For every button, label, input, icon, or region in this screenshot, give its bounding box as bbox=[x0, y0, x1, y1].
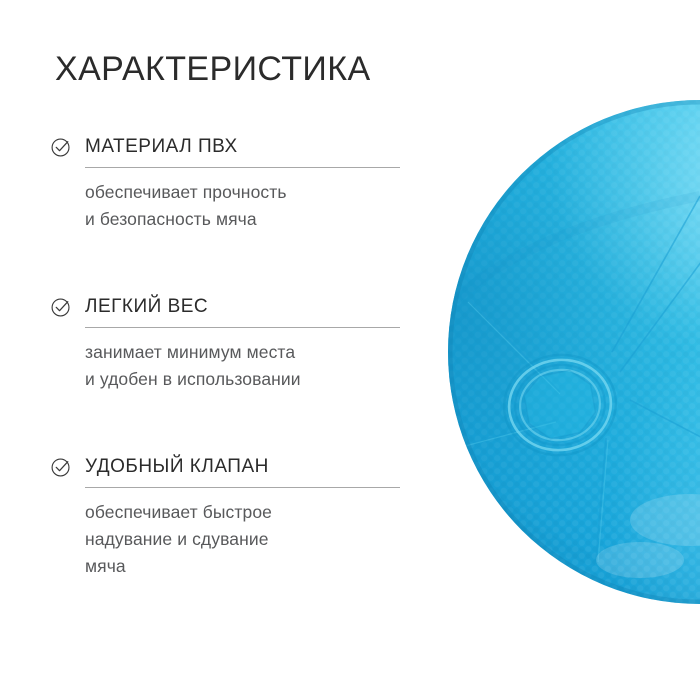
feature-divider bbox=[85, 167, 400, 168]
ball-seams bbox=[452, 196, 700, 560]
feature-item-valve: УДОБНЫЙ КЛАПАН обеспечивает быстрое наду… bbox=[50, 454, 410, 580]
feature-description: обеспечивает быстрое надувание и сдувани… bbox=[85, 499, 395, 580]
feature-divider bbox=[85, 327, 400, 328]
feature-description-line: надувание и сдувание bbox=[85, 526, 395, 553]
feature-divider bbox=[85, 487, 400, 488]
feature-header: ЛЕГКИЙ ВЕС bbox=[50, 294, 410, 320]
feature-description-line: обеспечивает прочность bbox=[85, 179, 395, 206]
ball-body bbox=[430, 90, 700, 630]
feature-description-line: занимает минимум места bbox=[85, 339, 395, 366]
feature-description: занимает минимум места и удобен в исполь… bbox=[85, 339, 395, 393]
page-title: ХАРАКТЕРИСТИКА bbox=[55, 50, 371, 89]
feature-item-material: МАТЕРИАЛ ПВХ обеспечивает прочность и бе… bbox=[50, 134, 410, 233]
feature-item-weight: ЛЕГКИЙ ВЕС занимает минимум места и удоб… bbox=[50, 294, 410, 393]
check-circle-icon bbox=[50, 136, 72, 158]
feature-description: обеспечивает прочность и безопасность мя… bbox=[85, 179, 395, 233]
check-circle-icon bbox=[50, 456, 72, 478]
feature-description-line: и удобен в использовании bbox=[85, 366, 395, 393]
feature-title: УДОБНЫЙ КЛАПАН bbox=[85, 456, 269, 478]
ball-valve bbox=[498, 348, 623, 463]
feature-title: ЛЕГКИЙ ВЕС bbox=[85, 296, 208, 318]
feature-header: УДОБНЫЙ КЛАПАН bbox=[50, 454, 410, 480]
feature-description-line: мяча bbox=[85, 553, 395, 580]
product-feature-card: ХАРАКТЕРИСТИКА МАТЕРИАЛ ПВХ обеспечивает… bbox=[0, 0, 700, 700]
ball-seams-soft bbox=[450, 302, 608, 562]
feature-list-panel: ХАРАКТЕРИСТИКА МАТЕРИАЛ ПВХ обеспечивает… bbox=[0, 0, 430, 700]
feature-header: МАТЕРИАЛ ПВХ bbox=[50, 134, 410, 160]
feature-title: МАТЕРИАЛ ПВХ bbox=[85, 136, 238, 158]
feature-description-line: обеспечивает быстрое bbox=[85, 499, 395, 526]
check-circle-icon bbox=[50, 296, 72, 318]
feature-description-line: и безопасность мяча bbox=[85, 206, 395, 233]
